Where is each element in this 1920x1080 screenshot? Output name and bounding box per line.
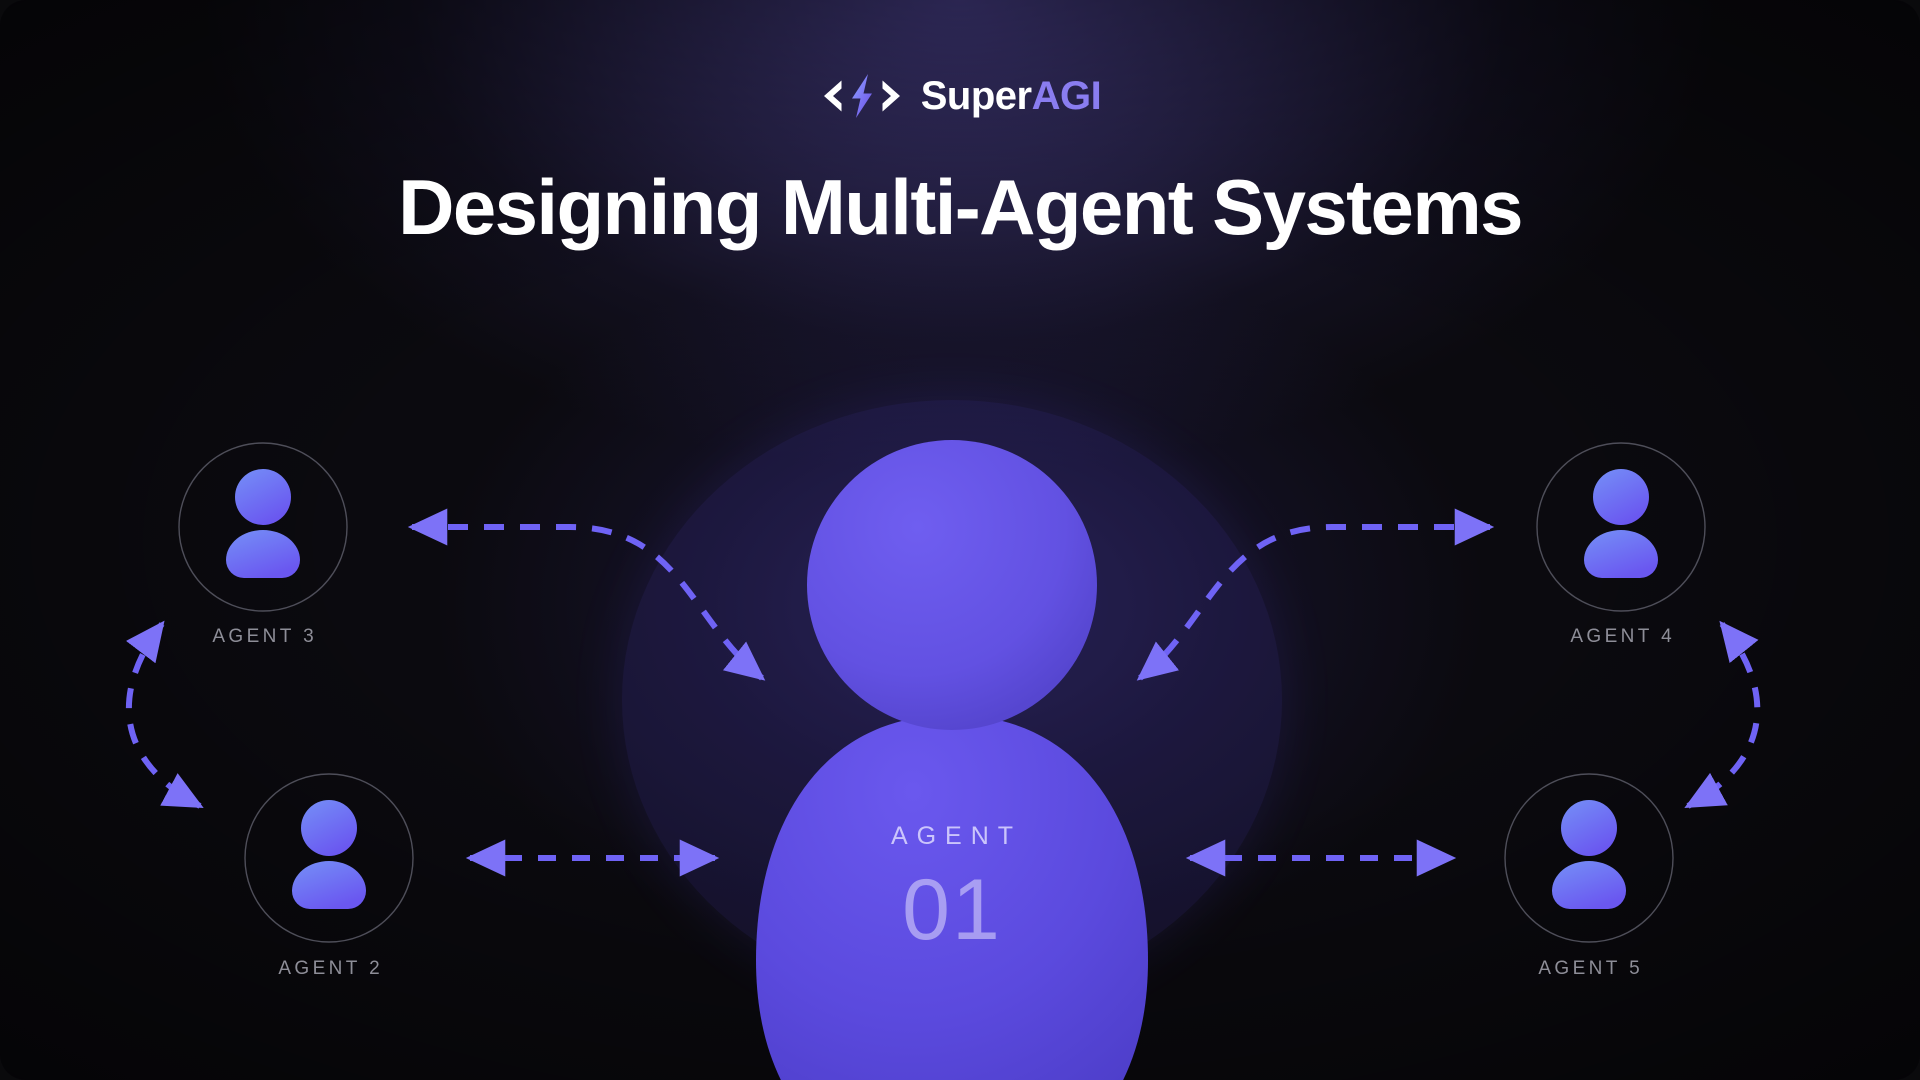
connector-agent-4-agent-5[interactable] [1688, 624, 1757, 806]
brand-logo-text-primary: Super [921, 74, 1032, 118]
center-agent-node[interactable] [622, 400, 1282, 1080]
center-agent-head [807, 440, 1097, 730]
brand-logo-text-accent: AGI [1032, 74, 1102, 118]
agent-2-label: AGENT 2 [275, 958, 383, 980]
brand-logo-text: SuperAGI [921, 76, 1101, 116]
poster-canvas: SuperAGI Designing Multi-Agent Systems [0, 0, 1920, 1080]
agent-5-person-icon [1552, 800, 1626, 909]
agent-network-diagram [0, 0, 1920, 1080]
agent-2-person-icon [292, 800, 366, 909]
connector-agent-3-agent-2[interactable] [129, 624, 200, 806]
brand-logo[interactable]: SuperAGI [0, 72, 1920, 120]
agent-5-ring [1505, 774, 1673, 942]
agent-node-3[interactable] [179, 443, 347, 611]
agent-3-person-icon [226, 469, 300, 578]
agent-3-label: AGENT 3 [209, 626, 317, 648]
agent-2-ring [245, 774, 413, 942]
agent-node-5[interactable] [1505, 774, 1673, 942]
agent-4-person-icon [1584, 469, 1658, 578]
agent-4-ring [1537, 443, 1705, 611]
agent-node-2[interactable] [245, 774, 413, 942]
agent-node-4[interactable] [1537, 443, 1705, 611]
page-title: Designing Multi-Agent Systems [0, 165, 1920, 249]
agent-3-ring [179, 443, 347, 611]
agent-4-label: AGENT 4 [1567, 626, 1675, 648]
code-brackets-lightning-icon [819, 72, 905, 120]
agent-5-label: AGENT 5 [1535, 958, 1643, 980]
